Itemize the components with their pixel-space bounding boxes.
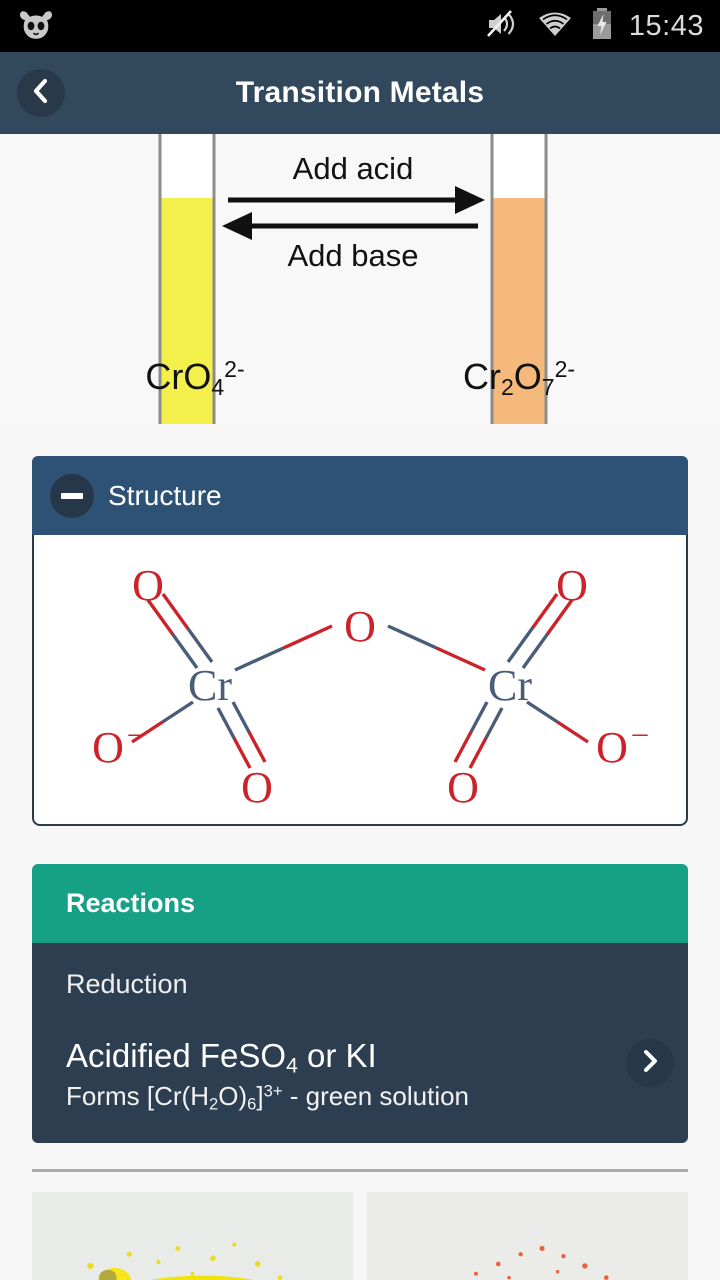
atom-labels: Cr Cr O O O O O O O – – xyxy=(92,561,648,812)
dichromate-structure-diagram: Cr Cr O O O O O O O – – xyxy=(60,540,660,820)
formula-superscript: 2- xyxy=(224,356,244,382)
back-button[interactable] xyxy=(17,69,65,117)
atom-cr-left: Cr xyxy=(188,661,232,710)
gallery-divider xyxy=(32,1169,688,1172)
forward-label: Add acid xyxy=(228,151,478,187)
atom-o-bridge: O xyxy=(344,602,376,651)
desc-p1: Forms [Cr(H xyxy=(66,1081,209,1111)
atom-o-2: O xyxy=(556,561,588,610)
structure-card-header[interactable]: Structure xyxy=(32,456,688,535)
reactions-card-header[interactable]: Reactions xyxy=(32,864,688,943)
cyanogenmod-logo-icon xyxy=(16,9,56,43)
reactions-card-body[interactable]: Reduction Acidified FeSO4 or KI Forms [C… xyxy=(32,943,688,1143)
photo-gallery xyxy=(0,1192,720,1280)
atom-o-3: O xyxy=(241,763,273,812)
reaction-name-pre: Acidified FeSO xyxy=(66,1037,286,1074)
structure-card: Structure xyxy=(32,456,688,826)
reverse-label: Add base xyxy=(228,238,478,274)
formula-subscript: 4 xyxy=(211,374,224,400)
status-bar-clock: 15:43 xyxy=(629,10,704,43)
chevron-right-icon xyxy=(640,1049,660,1078)
atom-o-4: O xyxy=(447,763,479,812)
chromate-powder-photo[interactable] xyxy=(32,1192,353,1280)
status-bar: 15:43 xyxy=(0,0,720,52)
volume-mute-icon xyxy=(485,9,519,44)
reactions-card: Reactions Reduction Acidified FeSO4 or K… xyxy=(32,864,688,1143)
formula-text: Cr xyxy=(463,356,501,397)
formula-subscript: 2 xyxy=(501,374,514,400)
equilibrium-diagram: Add acid Add base CrO42- Cr2O72- xyxy=(0,134,720,424)
desc-p2: O) xyxy=(218,1081,247,1111)
charge-minus-left: – xyxy=(128,716,145,749)
reaction-type-label: Reduction xyxy=(66,969,660,1000)
desc-s2: 6 xyxy=(247,1094,256,1113)
atom-o-5: O xyxy=(92,723,124,772)
formula-text: CrO xyxy=(145,356,211,397)
desc-p4: - green solution xyxy=(283,1081,469,1111)
formula-text-2: O xyxy=(514,356,542,397)
minus-bar xyxy=(61,493,83,499)
structure-card-body: Cr Cr O O O O O O O – – xyxy=(32,535,688,826)
status-bar-icons xyxy=(485,8,613,45)
desc-s1: 2 xyxy=(209,1094,218,1113)
reaction-name: Acidified FeSO4 or KI xyxy=(66,1038,660,1075)
page-title: Transition Metals xyxy=(0,76,720,110)
scroll-content[interactable]: Add acid Add base CrO42- Cr2O72- Structu… xyxy=(0,134,720,1280)
reactions-card-title: Reactions xyxy=(50,888,195,919)
app-bar: Transition Metals xyxy=(0,52,720,134)
desc-p3: ] xyxy=(256,1081,263,1111)
atom-o-1: O xyxy=(132,561,164,610)
reaction-name-post: or KI xyxy=(298,1037,377,1074)
atom-o-6: O xyxy=(596,723,628,772)
reaction-description: Forms [Cr(H2O)6]3+ - green solution xyxy=(66,1081,660,1112)
minus-circle-icon[interactable] xyxy=(50,474,94,518)
chevron-left-icon xyxy=(30,78,52,109)
structure-card-title: Structure xyxy=(108,480,222,512)
atom-cr-right: Cr xyxy=(488,661,532,710)
next-reaction-button[interactable] xyxy=(626,1039,674,1087)
left-tube-formula: CrO42- xyxy=(85,356,305,398)
formula-subscript-2: 7 xyxy=(542,374,555,400)
desc-sup: 3+ xyxy=(264,1081,283,1100)
right-tube-formula: Cr2O72- xyxy=(409,356,629,398)
reaction-name-sub: 4 xyxy=(286,1054,298,1077)
charge-minus-right: – xyxy=(632,716,649,749)
wifi-icon xyxy=(537,10,573,43)
battery-charging-icon xyxy=(591,8,613,45)
formula-superscript: 2- xyxy=(555,356,575,382)
dichromate-crystals-photo[interactable] xyxy=(367,1192,688,1280)
